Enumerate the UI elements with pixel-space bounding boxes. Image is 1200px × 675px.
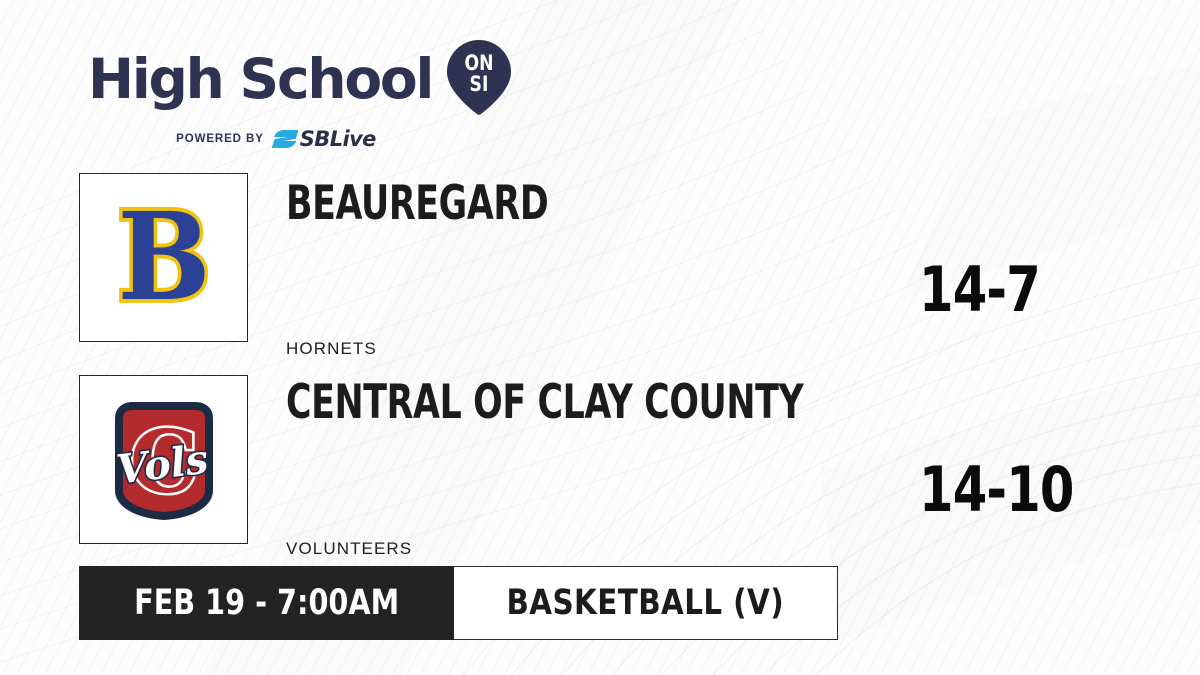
event-sport-label: BASKETBALL (V) — [507, 583, 785, 623]
on-si-pin-icon: ON SI — [446, 38, 512, 121]
team-record: 14-7 — [919, 259, 1040, 321]
event-info-bar: FEB 19 - 7:00AM BASKETBALL (V) — [79, 566, 838, 640]
event-sport-pill: BASKETBALL (V) — [454, 566, 838, 640]
team-logo-box: C Vols — [79, 375, 248, 544]
team-logo-box: B — [79, 173, 248, 342]
brand-wordmark: High School — [88, 52, 432, 107]
vols-shield-logo-icon: C Vols — [105, 398, 223, 522]
beauregard-b-logo-icon: B — [105, 199, 223, 317]
brand-wordmark-row: High School ON SI — [88, 38, 508, 121]
team-record: 14-10 — [919, 459, 1074, 521]
event-datetime-label: FEB 19 - 7:00AM — [134, 583, 399, 623]
sblive-logo: SBLive — [272, 128, 376, 150]
powered-by-row: POWERED BY SBLive — [44, 128, 508, 150]
svg-text:B: B — [117, 199, 210, 317]
event-datetime-pill: FEB 19 - 7:00AM — [79, 566, 454, 640]
team-mascot: HORNETS — [286, 339, 377, 359]
team-name: BEAUREGARD — [286, 180, 548, 227]
powered-by-label: POWERED BY — [176, 133, 264, 145]
team-mascot: VOLUNTEERS — [286, 539, 412, 559]
sblive-s-icon — [272, 128, 298, 150]
pin-badge-line2: SI — [470, 71, 489, 96]
matchup-graphic: High School ON SI POWERED BY SBLive — [0, 0, 1200, 675]
team-name: CENTRAL OF CLAY COUNTY — [286, 379, 803, 426]
brand-logo: High School ON SI POWERED BY SBLive — [88, 38, 508, 150]
sblive-wordmark: SBLive — [300, 129, 376, 150]
